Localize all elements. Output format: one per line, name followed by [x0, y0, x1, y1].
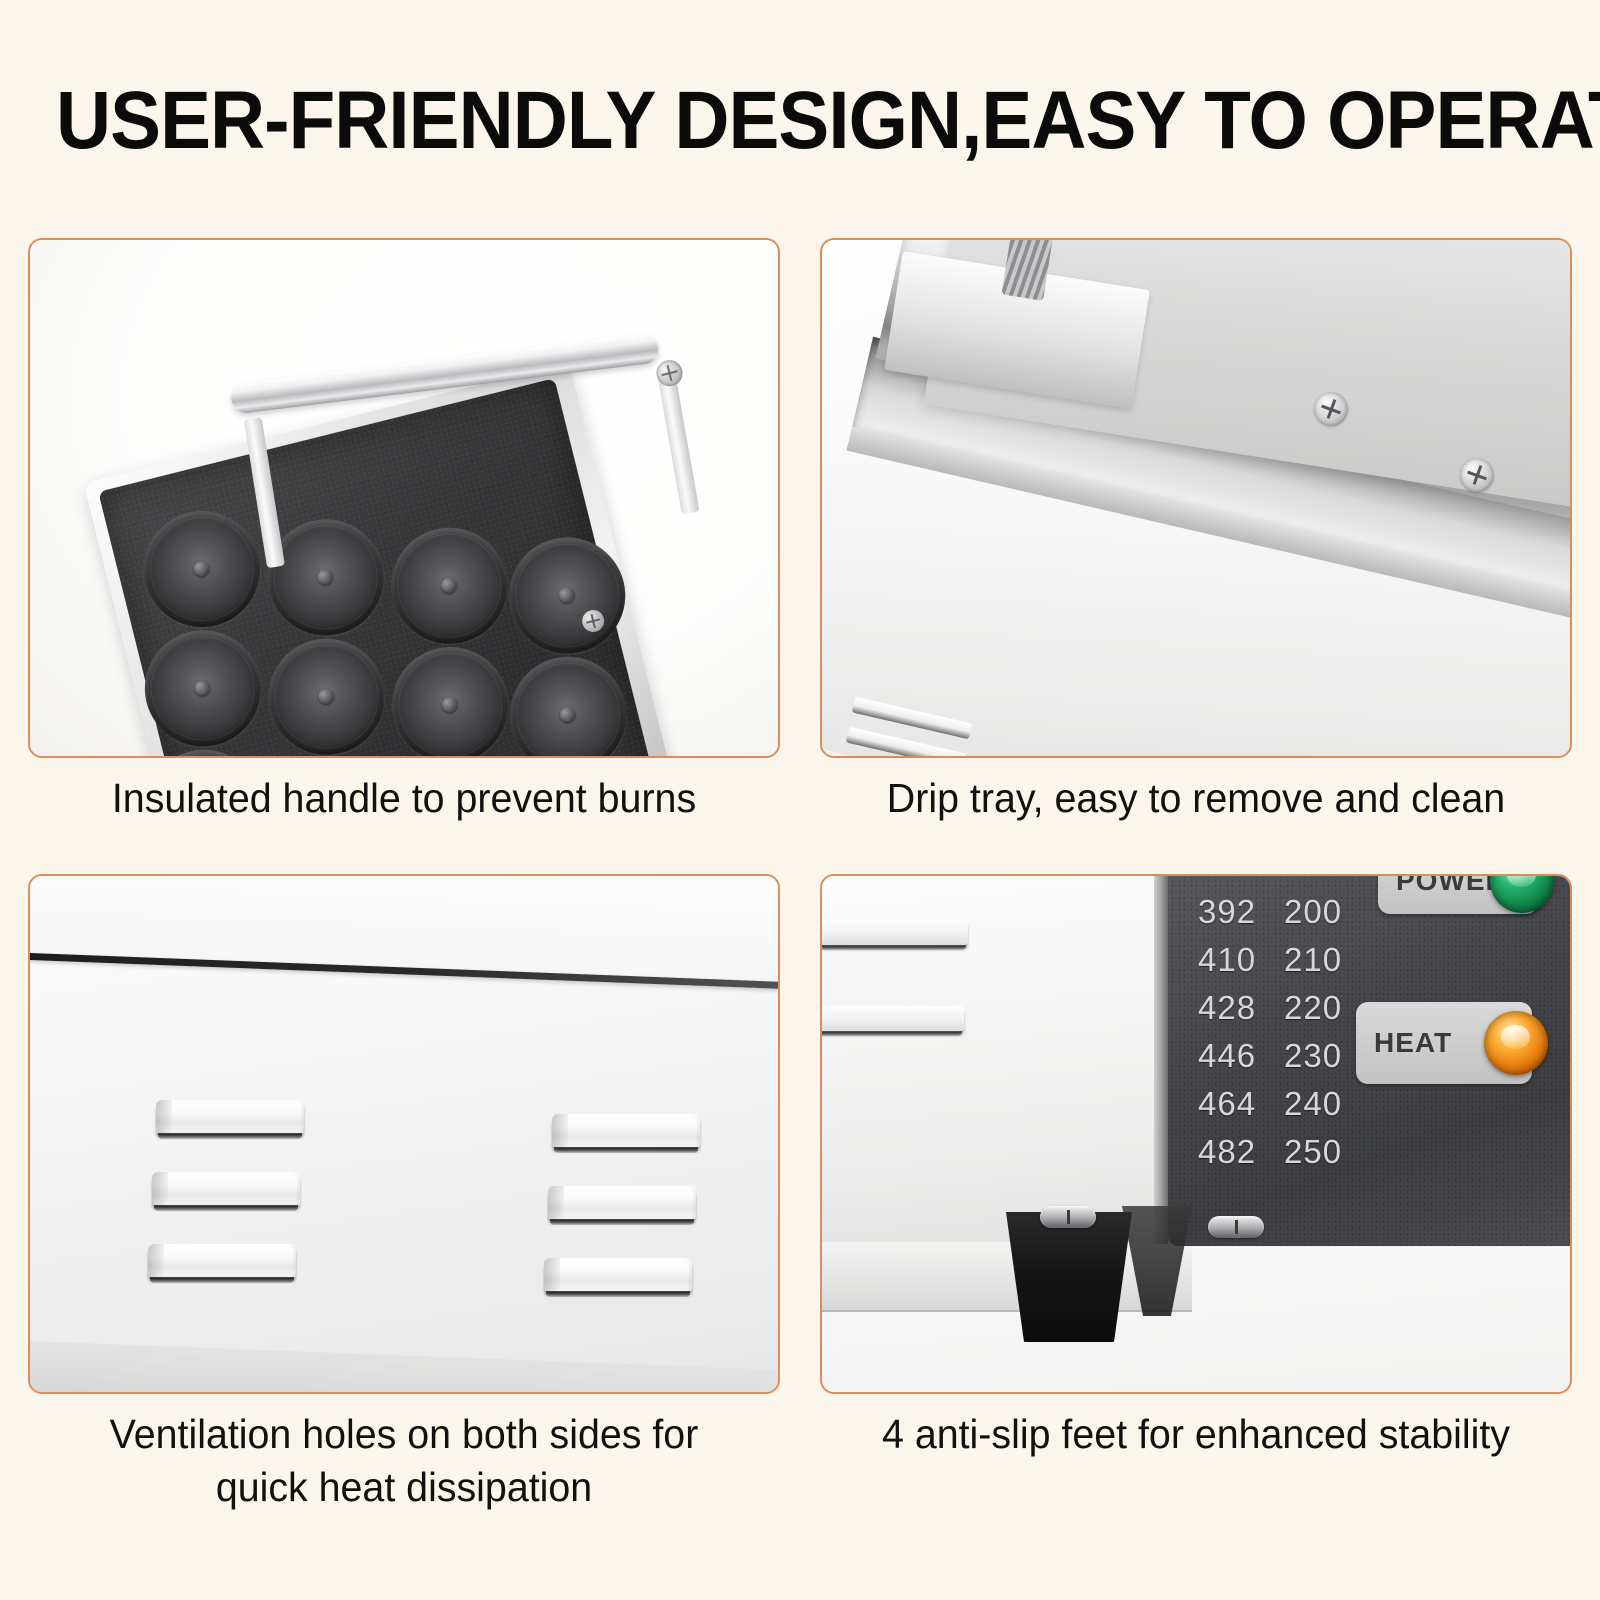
vent-louver — [548, 1186, 696, 1220]
temperature-row: 482 250 — [1198, 1128, 1360, 1176]
temperature-row: 392 200 — [1198, 888, 1360, 936]
vent-slot — [820, 1006, 964, 1032]
temp-celsius: 220 — [1284, 984, 1360, 1032]
temperature-chart: 392 200 410 210 428 220 446 230 — [1198, 888, 1360, 1176]
temp-fahrenheit: 392 — [1198, 888, 1284, 936]
temp-fahrenheit: 428 — [1198, 984, 1284, 1032]
control-panel-edge — [1154, 874, 1168, 1244]
vent-louver — [156, 1100, 304, 1134]
vent-louver — [152, 1172, 300, 1206]
caption-anti-slip-feet: 4 anti-slip feet for enhanced stability — [825, 1408, 1566, 1461]
foot-mounting-screw — [1208, 1216, 1264, 1238]
vent-slot — [820, 920, 968, 946]
temp-celsius: 210 — [1284, 936, 1360, 984]
temperature-row: 464 240 — [1198, 1080, 1360, 1128]
heat-lamp-icon — [1484, 1011, 1548, 1075]
caption-ventilation-line1: Ventilation holes on both sides for — [33, 1408, 774, 1461]
temp-fahrenheit: 464 — [1198, 1080, 1284, 1128]
panel-drip-tray — [820, 238, 1572, 758]
temp-celsius: 240 — [1284, 1080, 1360, 1128]
page-title: USER-FRIENDLY DESIGN,EASY TO OPERATE — [56, 78, 1544, 164]
feature-cell-insulated-handle: Insulated handle to prevent burns — [28, 238, 780, 758]
vent-slot — [840, 757, 961, 758]
temp-celsius: 200 — [1284, 888, 1360, 936]
temperature-row: 446 230 — [1198, 1032, 1360, 1080]
vent-louver — [148, 1244, 296, 1278]
temp-fahrenheit: 446 — [1198, 1032, 1284, 1080]
feature-cell-anti-slip-feet: 392 200 410 210 428 220 446 230 — [820, 874, 1572, 1394]
temperature-row: 428 220 — [1198, 984, 1360, 1032]
power-lamp-icon — [1490, 874, 1554, 913]
feature-grid: Insulated handle to prevent burns Drip t… — [28, 238, 1572, 1568]
feature-cell-ventilation: Ventilation holes on both sides for quic… — [28, 874, 780, 1394]
caption-drip-tray: Drip tray, easy to remove and clean — [825, 772, 1566, 825]
feature-cell-drip-tray: Drip tray, easy to remove and clean — [820, 238, 1572, 758]
control-panel: 392 200 410 210 428 220 446 230 — [1168, 874, 1572, 1246]
temp-celsius: 230 — [1284, 1032, 1360, 1080]
panel-ventilation — [28, 874, 780, 1394]
power-indicator: POWER — [1378, 874, 1538, 914]
vent-louver — [544, 1258, 692, 1292]
vent-louver — [552, 1114, 700, 1148]
temp-fahrenheit: 482 — [1198, 1128, 1284, 1176]
caption-insulated-handle: Insulated handle to prevent burns — [33, 772, 774, 825]
heat-indicator-label: HEAT — [1374, 1027, 1452, 1059]
heat-indicator: HEAT — [1356, 1002, 1532, 1084]
panel-insulated-handle — [28, 238, 780, 758]
temp-celsius: 250 — [1284, 1128, 1360, 1176]
panel-anti-slip-feet: 392 200 410 210 428 220 446 230 — [820, 874, 1572, 1394]
mounting-screw — [1460, 458, 1494, 492]
caption-ventilation: Ventilation holes on both sides for quic… — [33, 1408, 774, 1514]
foot-mounting-screw — [1040, 1206, 1096, 1228]
temperature-row: 410 210 — [1198, 936, 1360, 984]
temp-fahrenheit: 410 — [1198, 936, 1284, 984]
caption-ventilation-line2: quick heat dissipation — [33, 1461, 774, 1514]
mounting-screw — [1314, 392, 1348, 426]
